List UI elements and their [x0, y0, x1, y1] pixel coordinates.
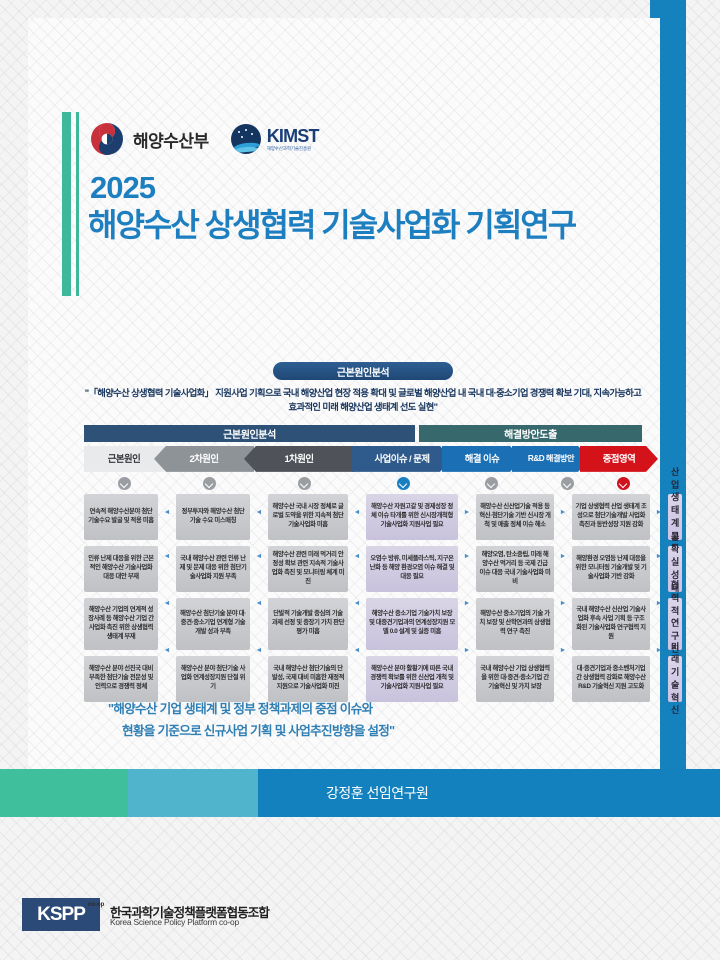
- page-title: 해양수산 상생협력 기술사업화 기획연구: [88, 205, 658, 246]
- kspp-logo-text: KSPP: [37, 904, 85, 926]
- arrow-column-1: ◄ ◄ ◄ ◄: [163, 494, 171, 702]
- chevron-down-circle-icon-solution-issue: [485, 477, 498, 490]
- arrow-right-icon: ►: [463, 632, 471, 670]
- arrow-left-icon: ◄: [255, 632, 263, 670]
- chevron-down-circle-icon-business-issue: [397, 477, 410, 490]
- arrow-left-icon: ◄: [353, 632, 361, 670]
- root-cause-diagram: 근본원인분석 "「해양수산 상생협력 기술사업화」 지원사업 기획으로 국내 해…: [84, 362, 642, 702]
- arrow-left-icon: ◄: [353, 582, 361, 626]
- chevron-header-secondary-cause: 2차원인: [154, 446, 254, 472]
- cell-rnd-solution-4: 대·중견기업과 중소벤처기업 간 상생협력 강화로 해양수산 R&D 기술혁신 …: [572, 656, 650, 702]
- arrow-left-icon: ◄: [255, 582, 263, 626]
- arrow-column-3: ◄ ◄ ◄ ◄: [353, 494, 361, 702]
- cell-solution-issue-4: 국내 해양수산 기업 상생협력을 위한 대·중견·중소기업 간 기술혁신 및 가…: [476, 656, 554, 702]
- column-primary-cause: 해양수산 국내 시장 정체로 글로벌 도약을 위한 지속적 첨단기술사업화 미흡…: [268, 494, 348, 702]
- cell-primary-cause-4: 국내 해양수산 첨단기술의 단발성, 국제 대비 미흡한 재정적 지원으로 기술…: [268, 656, 348, 702]
- cell-solution-issue-3: 해양수산 중소기업의 기술 가치 보장 및 산학연과의 상생협력 연구 촉진: [476, 598, 554, 650]
- arrow-right-icon: ►: [463, 494, 471, 532]
- arrow-left-icon: ◄: [255, 538, 263, 576]
- band-solution-derivation: 해결방안도출: [419, 425, 642, 442]
- summary-quote-line1: "해양수산 기업 생태계 및 정부 정책과제의 중점 이슈와: [108, 702, 372, 716]
- logo-row: 해양수산부 KIMST 해양수산과학기술진흥원: [90, 122, 319, 156]
- arrow-left-icon: ◄: [255, 494, 263, 532]
- column-secondary-cause: 정부투자와 해양수산 첨단기술 수요 미스매칭 국내 해양수산 관련 인류 난제…: [176, 494, 250, 702]
- chevron-header-business-issue: 사업이슈 / 문제: [352, 446, 452, 472]
- arrow-column-2: ◄ ◄ ◄ ◄: [255, 494, 263, 702]
- root-analysis-pill: 근본원인분석: [273, 362, 453, 380]
- arrow-left-icon: ◄: [163, 632, 171, 670]
- column-indicator-row: [84, 477, 642, 491]
- kimst-wordmark: KIMST 해양수산과학기술진흥원: [267, 127, 319, 152]
- chevron-header-focus-area: 중점영역: [580, 446, 658, 472]
- cell-root-cause-1: 연속적 해양수산분야 첨단기술수요 발굴 및 적용 미흡: [84, 494, 158, 540]
- cell-rnd-solution-2: 해양환경 오염등 난제 대응을 위한 모니터링 기술개발 및 기술사업화 기반 …: [572, 546, 650, 592]
- cell-rnd-solution-3: 국내 해양수산 신산업 기술사업화 후속 사업 기획 등 구조화된 기술사업화 …: [572, 598, 650, 650]
- title-year: 2025: [90, 172, 155, 203]
- chevron-header-solution-issue: 해결 이슈: [442, 446, 522, 472]
- cell-root-cause-3: 해양수산 기업의 연계적 성장사례 등 해양수산 기업 간 사업화 촉진 위한 …: [84, 598, 158, 650]
- kspp-coop-label: co-op: [88, 902, 104, 908]
- kimst-logo-label: KIMST: [267, 127, 319, 145]
- cell-business-issue-2: 오염수 방류, 미세플라스틱, 지구온난화 등 해양 환경오염 이슈 해결 및 …: [366, 546, 458, 592]
- chevron-header-primary-cause: 1차원인: [244, 446, 354, 472]
- title-accent-bar-thick: [62, 112, 71, 296]
- diagram-grid: 연속적 해양수산분야 첨단기술수요 발굴 및 적용 미흡 인류 난제 대응을 위…: [84, 494, 642, 702]
- title-accent-bar-thin: [76, 112, 79, 296]
- kimst-logo: KIMST 해양수산과학기술진흥원: [231, 124, 319, 154]
- cell-business-issue-1: 해양수산 자원고갈 및 경제성장 정체 이슈 타개를 위한 신시장개척형 기술사…: [366, 494, 458, 540]
- root-analysis-summary: "「해양수산 상생협력 기술사업화」 지원사업 기획으로 국내 해양산업 현장 …: [84, 386, 642, 415]
- cell-business-issue-4: 해양수산 분야 활황기에 따른 국내 경쟁력 확보를 위한 신산업 개척 및 기…: [366, 656, 458, 702]
- chevron-down-circle-icon-secondary-cause: [203, 477, 216, 490]
- arrow-right-icon: ►: [655, 494, 663, 532]
- section-band-row: 근본원인분석 해결방안도출: [84, 425, 642, 442]
- arrow-left-icon: ◄: [163, 582, 171, 626]
- author-banner: 강정훈 선임연구원: [0, 769, 720, 817]
- cell-solution-issue-2: 해양오염, 탄소중립, 미래 해양수산 먹거리 등 국제 긴급 이슈 대응 국내…: [476, 546, 554, 592]
- arrow-left-icon: ◄: [353, 538, 361, 576]
- arrow-right-icon: ►: [463, 582, 471, 626]
- column-solution-issue: 해양수산 신산업기술 적용 등 혁신·첨단기술 기반 신시장 개척 및 매출 정…: [476, 494, 554, 702]
- cell-focus-area-4: 미래기술혁신: [668, 656, 682, 702]
- column-focus-area: 산업 생태계 고도화 불확실성 대비 협력적 연구진흥 미래기술혁신: [668, 494, 682, 702]
- cell-secondary-cause-3: 해양수산 첨단기술 분야 대·중견·중소기업 연계형 기술개발 성과 부족: [176, 598, 250, 650]
- chevron-down-circle-icon-focus-area: [617, 477, 630, 490]
- arrow-right-icon: ►: [655, 632, 663, 670]
- arrow-right-icon: ►: [463, 538, 471, 576]
- cell-root-cause-4: 해양수산 분야 선진국 대비 부족한 첨단기술 전문성 및 인력으로 경쟁력 정…: [84, 656, 158, 702]
- arrow-right-icon: ►: [559, 632, 567, 670]
- arrow-column-4: ► ► ► ►: [463, 494, 471, 702]
- cell-primary-cause-1: 해양수산 국내 시장 정체로 글로벌 도약을 위한 지속적 첨단기술사업화 미흡: [268, 494, 348, 540]
- cell-root-cause-2: 인류 난제 대응을 위한 근본적인 해양수산 기술사업화 대응 대안 부재: [84, 546, 158, 592]
- chevron-down-circle-icon-rnd-solution: [561, 477, 574, 490]
- kimst-logo-sub: 해양수산과학기술진흥원: [267, 147, 319, 152]
- kimst-mark-icon: [231, 124, 261, 154]
- cell-secondary-cause-1: 정부투자와 해양수산 첨단기술 수요 미스매칭: [176, 494, 250, 540]
- taegeuk-icon: [90, 122, 124, 156]
- arrow-column-5: ► ► ► ►: [559, 494, 567, 702]
- chevron-down-circle-icon-primary-cause: [298, 477, 311, 490]
- arrow-left-icon: ◄: [163, 538, 171, 576]
- banner-blue-block: 강정훈 선임연구원: [258, 769, 720, 817]
- ministry-logo: 해양수산부: [90, 122, 209, 156]
- banner-teal-block: [128, 769, 258, 817]
- arrow-right-icon: ►: [559, 538, 567, 576]
- cell-solution-issue-1: 해양수산 신산업기술 적용 등 혁신·첨단기술 기반 신시장 개척 및 매출 정…: [476, 494, 554, 540]
- cell-primary-cause-2: 해양수산 관련 미래 먹거리 안정성 확보 관련 지속적 기술사업화 촉진 및 …: [268, 546, 348, 592]
- arrow-left-icon: ◄: [353, 494, 361, 532]
- column-root-cause: 연속적 해양수산분야 첨단기술수요 발굴 및 적용 미흡 인류 난제 대응을 위…: [84, 494, 158, 702]
- arrow-column-6: ► ► ► ►: [655, 494, 663, 702]
- ministry-logo-label: 해양수산부: [133, 127, 209, 152]
- kspp-org-name-en: Korea Science Policy Platform co-op: [110, 917, 239, 927]
- author-name: 강정훈 선임연구원: [326, 783, 428, 803]
- cell-primary-cause-3: 단발적 기술개발 중심의 기술 과제 선정 및 중장기 가치 판단 평가 미흡: [268, 598, 348, 650]
- footer: KSPP co-op 한국과학기술정책플랫폼협동조합 Korea Science…: [0, 880, 720, 960]
- chevron-down-circle-icon-root-cause: [118, 477, 131, 490]
- cell-rnd-solution-1: 기업 상생협력 산업 생태계 조성으로 첨단기술개발 사업화 촉진과 동반성장 …: [572, 494, 650, 540]
- cell-business-issue-3: 해양수산 중소기업 기술가치 보장 및 대중견기업과의 연계성장지원 모델 0.…: [366, 598, 458, 650]
- slide-page: 해양수산부 KIMST 해양수산과학기술진흥원 2025 해양수산 상생협력 기…: [0, 0, 720, 960]
- summary-quote: "해양수산 기업 생태계 및 정부 정책과제의 중점 이슈와 현황을 기준으로 …: [108, 698, 628, 742]
- chevron-header-rnd-solution: R&D 해결방안: [512, 446, 590, 472]
- banner-green-block: [0, 769, 128, 817]
- summary-quote-line2: 현황을 기준으로 신규사업 기획 및 사업추진방향을 설정": [108, 720, 628, 742]
- band-root-cause-analysis: 근본원인분석: [84, 425, 415, 442]
- cell-secondary-cause-4: 해양수산 분야 첨단기술 사업화 연계성장지원 단절 위기: [176, 656, 250, 702]
- cell-secondary-cause-2: 국내 해양수산 관련 인류 난제 및 문제 대응 위한 첨단기술사업화 지원 부…: [176, 546, 250, 592]
- column-rnd-solution: 기업 상생협력 산업 생태계 조성으로 첨단기술개발 사업화 촉진과 동반성장 …: [572, 494, 650, 702]
- arrow-right-icon: ►: [559, 582, 567, 626]
- chevron-header-root-cause: 근본원인: [84, 446, 164, 472]
- arrow-right-icon: ►: [655, 538, 663, 576]
- arrow-left-icon: ◄: [163, 494, 171, 532]
- column-header-chevrons: 근본원인 2차원인 1차원인 사업이슈 / 문제 해결 이슈 R&D 해결방안 …: [84, 446, 642, 472]
- column-business-issue: 해양수산 자원고갈 및 경제성장 정체 이슈 타개를 위한 신시장개척형 기술사…: [366, 494, 458, 702]
- arrow-right-icon: ►: [559, 494, 567, 532]
- arrow-right-icon: ►: [655, 582, 663, 626]
